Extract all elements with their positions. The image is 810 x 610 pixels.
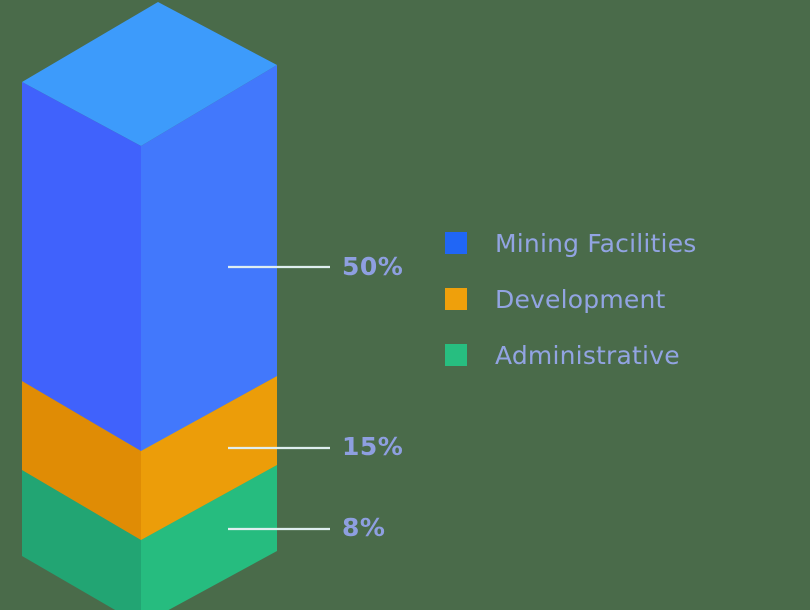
callout-value-15: 15% <box>342 434 403 459</box>
legend-item-administrative[interactable]: Administrative <box>445 344 765 366</box>
legend-label-development: Development <box>495 287 666 312</box>
legend-item-development[interactable]: Development <box>445 288 765 310</box>
legend-swatch-mining-facilities-icon <box>445 232 467 254</box>
chart-legend: Mining Facilities Development Administra… <box>445 232 765 400</box>
chart-canvas: 50% 15% 8% Mining Facilities Development… <box>0 0 810 610</box>
callout-value-50: 50% <box>342 254 403 279</box>
legend-label-mining-facilities: Mining Facilities <box>495 231 697 256</box>
bar-segment-mining-facilities[interactable] <box>22 2 277 451</box>
legend-swatch-administrative-icon <box>445 344 467 366</box>
legend-label-administrative: Administrative <box>495 343 680 368</box>
callout-value-8: 8% <box>342 515 385 540</box>
legend-swatch-development-icon <box>445 288 467 310</box>
legend-item-mining-facilities[interactable]: Mining Facilities <box>445 232 765 254</box>
